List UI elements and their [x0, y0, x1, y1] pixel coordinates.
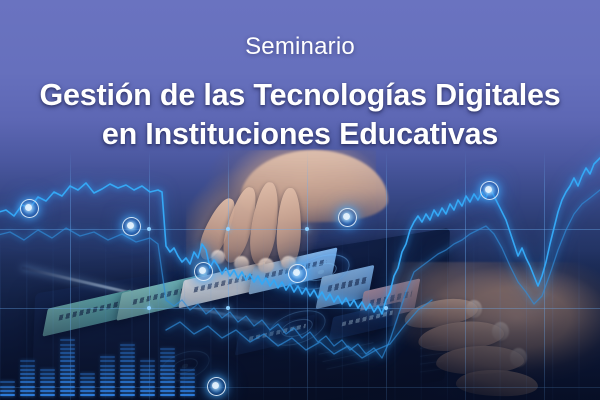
kicker-label: Seminario — [0, 34, 600, 60]
chart-grid-point — [305, 227, 309, 231]
chart-node-marker — [480, 181, 499, 200]
chart-series-tertiary — [166, 300, 432, 358]
chart-grid-point — [147, 306, 151, 310]
chart-grid-point — [226, 227, 230, 231]
chart-node-marker — [288, 264, 307, 283]
headline-line-2: en Instituciones Educativas — [102, 117, 498, 151]
headline-line-1: Gestión de las Tecnologías Digitales — [39, 78, 560, 112]
chart-node-marker — [20, 199, 39, 218]
chart-node-marker — [122, 217, 141, 236]
chart-node-marker — [194, 262, 213, 281]
chart-grid-point — [147, 227, 151, 231]
chart-grid-point — [226, 306, 230, 310]
chart-node-marker — [207, 377, 226, 396]
chart-node-marker — [338, 208, 357, 227]
page-title: Gestión de las Tecnologías Digitales en … — [0, 76, 600, 154]
banner-text-block: Seminario Gestión de las Tecnologías Dig… — [0, 34, 600, 154]
chart-grid-point — [384, 306, 388, 310]
seminar-banner: Seminario Gestión de las Tecnologías Dig… — [0, 0, 600, 400]
chart-series-main — [0, 150, 600, 314]
